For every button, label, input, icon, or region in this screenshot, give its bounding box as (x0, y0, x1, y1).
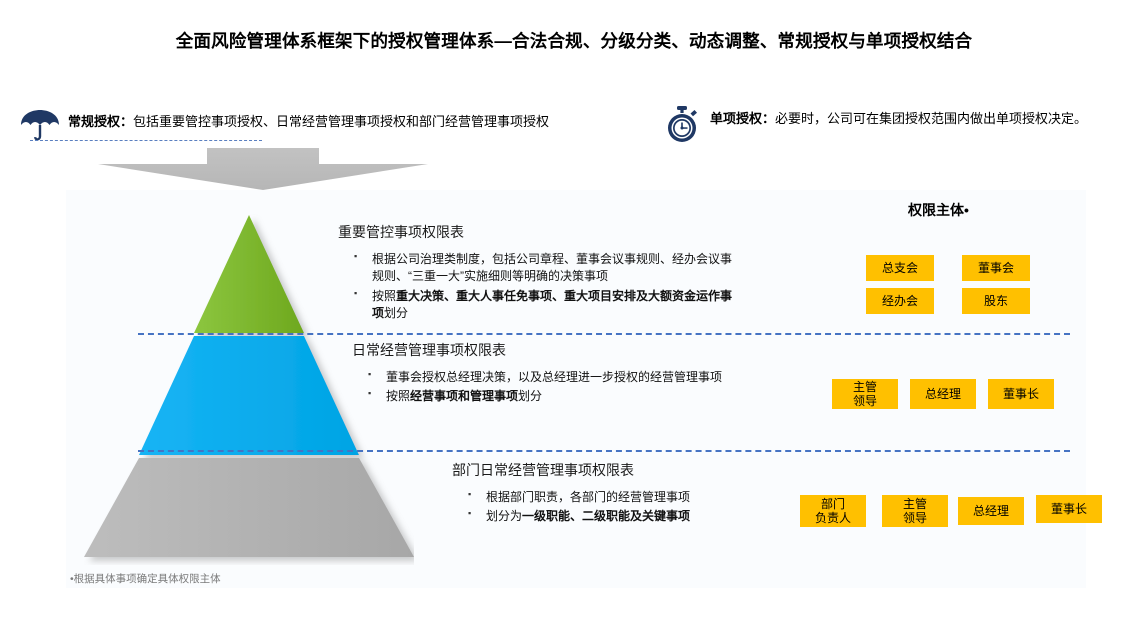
callout-regular-authorization: 常规授权：包括重要管控事项授权、日常经营管理事项授权和部门经营管理事项授权 (18, 108, 549, 144)
tier-title: 重要管控事项权限表 (338, 222, 738, 242)
tier-bullet: 划分为一级职能、二级职能及关键事项 (468, 508, 832, 525)
callout-regular-text: 常规授权：包括重要管控事项授权、日常经营管理事项授权和部门经营管理事项授权 (68, 108, 549, 130)
tier-bullet: 董事会授权总经理决策，以及总经理进一步授权的经营管理事项 (368, 369, 752, 386)
callout-single-authorization: 单项授权：必要时，公司可在集团授权范围内做出单项授权决定。 (660, 105, 1087, 141)
callout-single-text: 单项授权：必要时，公司可在集团授权范围内做出单项授权决定。 (710, 105, 1087, 127)
authority-chip[interactable]: 部门 负责人 (800, 495, 866, 527)
tier-block-daily-operation: 日常经营管理事项权限表 董事会授权总经理决策，以及总经理进一步授权的经营管理事项… (352, 340, 752, 408)
bullet-segment: 董事会授权总经理决策，以及总经理进一步授权的经营管理事项 (386, 370, 722, 384)
bullet-segment-bold: 重大决策、重大人事任免事项、重大项目安排及大额资金运作事项 (372, 289, 732, 320)
authority-chip[interactable]: 总经理 (958, 497, 1024, 525)
tier-bullet-list: 根据公司治理类制度，包括公司章程、董事会议事规则、经办会议事规则、“三重一大”实… (354, 251, 738, 323)
tier-block-department-operation: 部门日常经营管理事项权限表 根据部门职责，各部门的经营管理事项 划分为一级职能、… (452, 460, 832, 528)
callout-regular-underline (30, 140, 262, 141)
pyramid-tier-bottom (84, 458, 414, 557)
authority-chip[interactable]: 主管 领导 (882, 495, 948, 527)
bullet-segment: 根据部门职责，各部门的经营管理事项 (486, 490, 690, 504)
authority-chip[interactable]: 经办会 (866, 288, 934, 314)
authority-chip[interactable]: 董事会 (962, 255, 1030, 281)
callout-single-body: 必要时，公司可在集团授权范围内做出单项授权决定。 (775, 111, 1087, 126)
authority-chip[interactable]: 董事长 (1036, 495, 1102, 523)
page-title: 全面风险管理体系框架下的授权管理体系—合法合规、分级分类、动态调整、常规授权与单… (0, 30, 1148, 53)
tier-block-important-control: 重要管控事项权限表 根据公司治理类制度，包括公司章程、董事会议事规则、经办会议事… (338, 222, 738, 325)
authority-subject-header: 权限主体• (908, 200, 969, 220)
bullet-segment: 按照 (372, 289, 396, 303)
slide-canvas: 全面风险管理体系框架下的授权管理体系—合法合规、分级分类、动态调整、常规授权与单… (0, 0, 1148, 628)
tier-divider-lower (138, 450, 1070, 452)
tier-bullet: 按照重大决策、重大人事任免事项、重大项目安排及大额资金运作事项划分 (354, 288, 738, 323)
authority-chip[interactable]: 总经理 (910, 379, 976, 409)
tier-bullet: 根据公司治理类制度，包括公司章程、董事会议事规则、经办会议事规则、“三重一大”实… (354, 251, 738, 286)
callout-regular-lead: 常规授权： (68, 114, 133, 129)
callout-regular-body: 包括重要管控事项授权、日常经营管理事项授权和部门经营管理事项授权 (133, 114, 549, 129)
down-arrow-icon (98, 148, 428, 190)
tier-title: 日常经营管理事项权限表 (352, 340, 752, 360)
bullet-segment: 划分 (384, 306, 408, 320)
authority-chip[interactable]: 董事长 (988, 379, 1054, 409)
bullet-segment: 根据公司治理类制度，包括公司章程、董事会议事规则、经办会议事规则、“三重一大”实… (372, 252, 732, 283)
pyramid-tier-middle (139, 336, 359, 455)
callout-single-lead: 单项授权： (710, 111, 775, 126)
bullet-segment: 划分 (518, 389, 542, 403)
bullet-segment: 按照 (386, 389, 410, 403)
pyramid-tier-top (194, 215, 304, 333)
tier-title: 部门日常经营管理事项权限表 (452, 460, 832, 480)
authority-chip[interactable]: 总支会 (866, 255, 934, 281)
tier-bullet: 根据部门职责，各部门的经营管理事项 (468, 489, 832, 506)
bullet-segment-bold: 经营事项和管理事项 (410, 389, 518, 403)
stopwatch-icon (660, 105, 704, 141)
tier-bullet-list: 董事会授权总经理决策，以及总经理进一步授权的经营管理事项 按照经营事项和管理事项… (368, 369, 752, 406)
bullet-segment-bold: 一级职能、二级职能及关键事项 (522, 509, 690, 523)
authority-chip[interactable]: 主管 领导 (832, 379, 898, 409)
umbrella-icon (18, 108, 62, 144)
bullet-segment: 划分为 (486, 509, 522, 523)
authority-chip[interactable]: 股东 (962, 288, 1030, 314)
tier-divider-upper (138, 333, 1070, 335)
tier-bullet-list: 根据部门职责，各部门的经营管理事项 划分为一级职能、二级职能及关键事项 (468, 489, 832, 526)
footnote: •根据具体事项确定具体权限主体 (70, 571, 221, 586)
tier-bullet: 按照经营事项和管理事项划分 (368, 388, 752, 405)
